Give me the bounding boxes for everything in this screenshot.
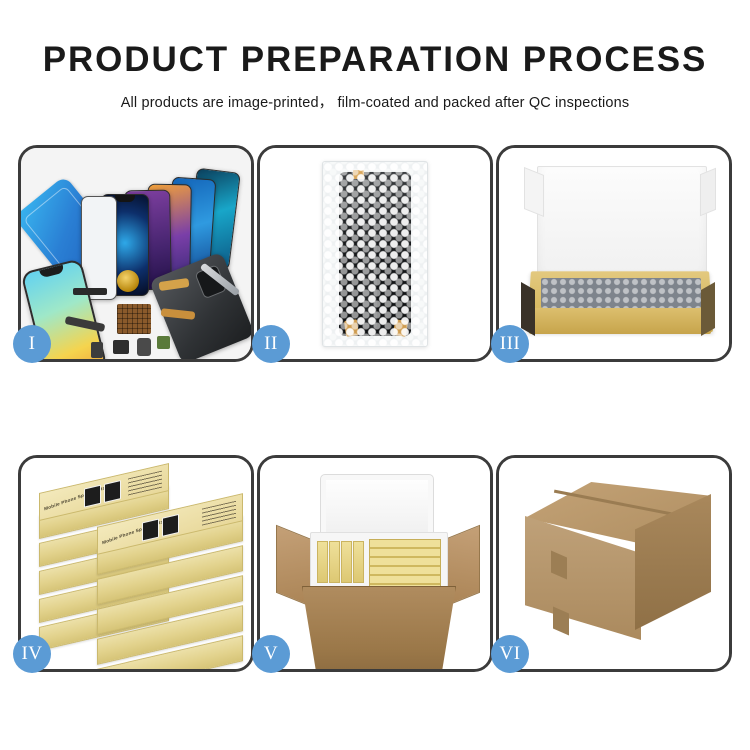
step-badge-2: II xyxy=(252,325,290,363)
step-badge-4: IV xyxy=(13,635,51,673)
box-spec-lines-front xyxy=(202,501,236,526)
small-component-d xyxy=(157,336,170,349)
box-spec-lines-back xyxy=(128,471,162,496)
page-subtitle: All products are image-printed， film-coa… xyxy=(0,91,750,112)
small-component-a xyxy=(91,342,103,358)
step-badge-1: I xyxy=(13,325,51,363)
process-step-panel-4[interactable]: Mobile Phone Spare Parts Mobile Phone Sp… xyxy=(18,455,254,672)
carton-body xyxy=(302,586,456,669)
step-3-photo xyxy=(499,148,729,359)
bubble-wrapped-contents xyxy=(541,278,701,308)
step-badge-6: VI xyxy=(491,635,529,673)
bubble-wrapped-screen-scene xyxy=(322,161,428,347)
page-header: PRODUCT PREPARATION PROCESS All products… xyxy=(0,0,750,112)
step-5-photo xyxy=(260,458,490,669)
flex-cable-part-a xyxy=(73,288,107,295)
white-foam-lid xyxy=(537,166,707,284)
process-step-grid: I II II xyxy=(18,145,732,672)
speaker-coil-part xyxy=(117,270,139,292)
retail-box-upright-1 xyxy=(317,541,328,583)
step-4-photo: Mobile Phone Spare Parts Mobile Phone Sp… xyxy=(21,458,251,669)
process-step-panel-2[interactable]: II xyxy=(257,145,493,362)
sealed-carton-scene xyxy=(517,482,715,651)
foam-lid-open xyxy=(320,474,434,540)
process-step-panel-6[interactable]: VI xyxy=(496,455,732,672)
process-step-panel-3[interactable]: III xyxy=(496,145,732,362)
box-window-back-2 xyxy=(104,480,121,503)
process-step-panel-1[interactable]: I xyxy=(18,145,254,362)
small-component-c xyxy=(137,338,151,356)
step-2-photo xyxy=(260,148,490,359)
step-badge-5: V xyxy=(252,635,290,673)
foam-liner-interior xyxy=(310,532,448,592)
bubble-wrap-texture-overlay xyxy=(323,162,427,346)
kraft-box-front-face xyxy=(529,308,711,334)
retail-box-stack xyxy=(369,539,441,587)
box-window-front-1 xyxy=(142,519,159,542)
retail-box-upright-2 xyxy=(329,541,340,583)
page-title: PRODUCT PREPARATION PROCESS xyxy=(0,42,750,79)
retail-box-upright-3 xyxy=(341,541,352,583)
box-flap-left xyxy=(521,282,535,336)
carton-with-foam-scene xyxy=(276,474,478,655)
phone-parts-collage-scene xyxy=(21,148,251,359)
open-kraft-box-scene xyxy=(521,166,711,333)
step-badge-3: III xyxy=(491,325,529,363)
step-1-photo xyxy=(21,148,251,359)
small-component-b xyxy=(113,340,129,354)
step-6-photo xyxy=(499,458,729,669)
box-window-front-2 xyxy=(162,514,179,537)
chip-grid-part xyxy=(117,304,151,334)
retail-box-upright-4 xyxy=(353,541,364,583)
process-step-panel-5[interactable]: V xyxy=(257,455,493,672)
box-flap-right xyxy=(701,282,715,336)
stacked-retail-boxes-scene: Mobile Phone Spare Parts Mobile Phone Sp… xyxy=(35,476,241,661)
box-window-back-1 xyxy=(84,485,101,508)
